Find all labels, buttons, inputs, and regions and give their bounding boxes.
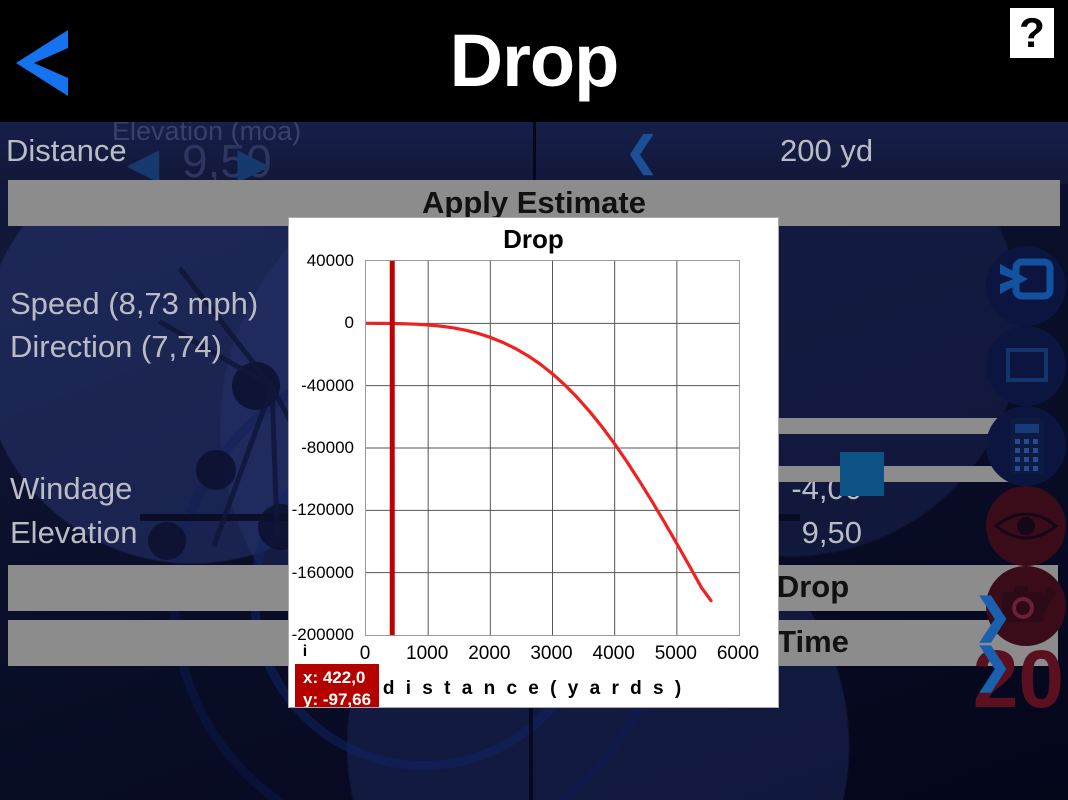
eye-glyph [986, 486, 1066, 566]
row-windage-label: Windage [10, 472, 132, 506]
y-tick-label: -120000 [292, 501, 354, 518]
y-tick-label: -160000 [292, 564, 354, 581]
node-dot [148, 522, 186, 560]
header-distance-value: 200 yd [780, 134, 873, 168]
rectangle-icon[interactable] [986, 326, 1066, 406]
chart-series-drop [366, 323, 711, 600]
chart-modal: Drop i n 400000-40000-80000-120000-16000… [289, 218, 778, 707]
eye-icon[interactable] [986, 486, 1066, 566]
send-arrow-icon[interactable] [986, 246, 1066, 326]
wind-direction-slider-track[interactable] [778, 466, 1016, 482]
app-root: Drop ? Distance Elevation (moa) 9,50 ◀ ▶… [0, 0, 1068, 800]
right-rail: 20 ❯ ❯ [984, 244, 1068, 800]
y-tick-label: -80000 [301, 439, 354, 456]
page-title: Drop [0, 20, 1068, 102]
header-prev-chevron-icon[interactable]: ◀ [128, 144, 159, 184]
drop-button-label: Drop [777, 565, 849, 609]
row-elevation-label: Elevation [10, 516, 138, 550]
header-divider [533, 122, 536, 184]
y-tick-label: -40000 [301, 377, 354, 394]
distance-prev-chevron-icon[interactable]: ❮ [625, 132, 659, 172]
chart-title: Drop [289, 224, 778, 254]
wind-direction-slider-thumb[interactable] [840, 452, 884, 496]
y-tick-label: 0 [345, 314, 354, 331]
rectangle-glyph [986, 326, 1066, 406]
rail-chevron-lower-icon[interactable]: ❯ [973, 642, 1012, 688]
header-next-chevron-icon[interactable]: ▶ [238, 144, 269, 184]
y-axis-label-line1: i [303, 643, 307, 660]
wind-speed-slider-track[interactable] [778, 418, 1016, 434]
row-speed-label: Speed (8,73 mph) [10, 287, 258, 321]
chart-plot-area [365, 260, 740, 636]
time-button-label: Time [777, 620, 849, 664]
apply-estimate-label: Apply Estimate [422, 185, 646, 220]
chart-x-axis-label: d i s t a n c e ( y a r d s ) [289, 678, 778, 700]
rail-chevron-upper-icon[interactable]: ❯ [973, 592, 1012, 638]
y-tick-label: 40000 [307, 252, 354, 269]
y-tick-label: -200000 [292, 626, 354, 643]
row-direction-label: Direction (7,74) [10, 330, 222, 364]
chart-svg [366, 261, 739, 635]
send-arrow-glyph [986, 246, 1066, 326]
title-bar: Drop ? [0, 0, 1068, 122]
calculator-icon[interactable] [986, 406, 1066, 486]
x-tick-label: 6000 [698, 644, 778, 663]
node-dot [196, 450, 236, 490]
help-button[interactable]: ? [1010, 8, 1054, 58]
header-distance-label: Distance [6, 134, 127, 168]
calculator-glyph [986, 406, 1066, 486]
chart-gridlines [366, 261, 739, 635]
